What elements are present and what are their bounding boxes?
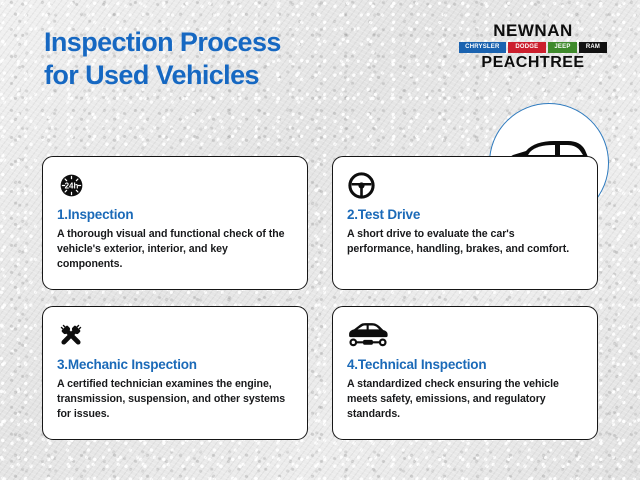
car-chassis-icon bbox=[347, 321, 389, 349]
brand-chip-jeep: JEEP bbox=[548, 42, 577, 53]
infographic-page: Inspection Process for Used Vehicles NEW… bbox=[0, 0, 640, 480]
card-icon-slot bbox=[347, 170, 583, 200]
card-icon-slot bbox=[347, 320, 583, 350]
brand-chip-dodge: DODGE bbox=[508, 42, 546, 53]
card-heading: 4.Technical Inspection bbox=[347, 357, 583, 372]
step-card-inspection: 24h 1.Inspection A thorough visual and f… bbox=[42, 156, 308, 290]
step-card-test-drive: 2.Test Drive A short drive to evaluate t… bbox=[332, 156, 598, 290]
card-heading: 2.Test Drive bbox=[347, 207, 583, 222]
dealership-logo: NEWNAN CHRYSLER DODGE JEEP RAM PEACHTREE bbox=[459, 22, 607, 71]
card-body: A thorough visual and functional check o… bbox=[57, 227, 293, 272]
process-card-grid: 24h 1.Inspection A thorough visual and f… bbox=[42, 156, 598, 440]
logo-bottom-word: PEACHTREE bbox=[459, 55, 607, 71]
step-card-mechanic-inspection: 3.Mechanic Inspection A certified techni… bbox=[42, 306, 308, 440]
card-body: A standardized check ensuring the vehicl… bbox=[347, 377, 583, 422]
card-heading: 1.Inspection bbox=[57, 207, 293, 222]
steering-wheel-icon bbox=[347, 171, 376, 200]
card-icon-slot: 24h bbox=[57, 170, 293, 200]
crossed-wrenches-icon bbox=[57, 321, 85, 349]
clock-24h-icon: 24h bbox=[57, 171, 86, 200]
logo-top-word: NEWNAN bbox=[459, 22, 607, 39]
step-card-technical-inspection: 4.Technical Inspection A standardized ch… bbox=[332, 306, 598, 440]
brand-chip-ram: RAM bbox=[579, 42, 607, 53]
card-body: A certified technician examines the engi… bbox=[57, 377, 293, 422]
card-heading: 3.Mechanic Inspection bbox=[57, 357, 293, 372]
brand-strip: CHRYSLER DODGE JEEP RAM bbox=[459, 42, 607, 53]
svg-text:24h: 24h bbox=[65, 181, 79, 190]
card-body: A short drive to evaluate the car's perf… bbox=[347, 227, 583, 257]
brand-chip-chrysler: CHRYSLER bbox=[459, 42, 506, 53]
page-title: Inspection Process for Used Vehicles bbox=[44, 26, 281, 92]
card-icon-slot bbox=[57, 320, 293, 350]
